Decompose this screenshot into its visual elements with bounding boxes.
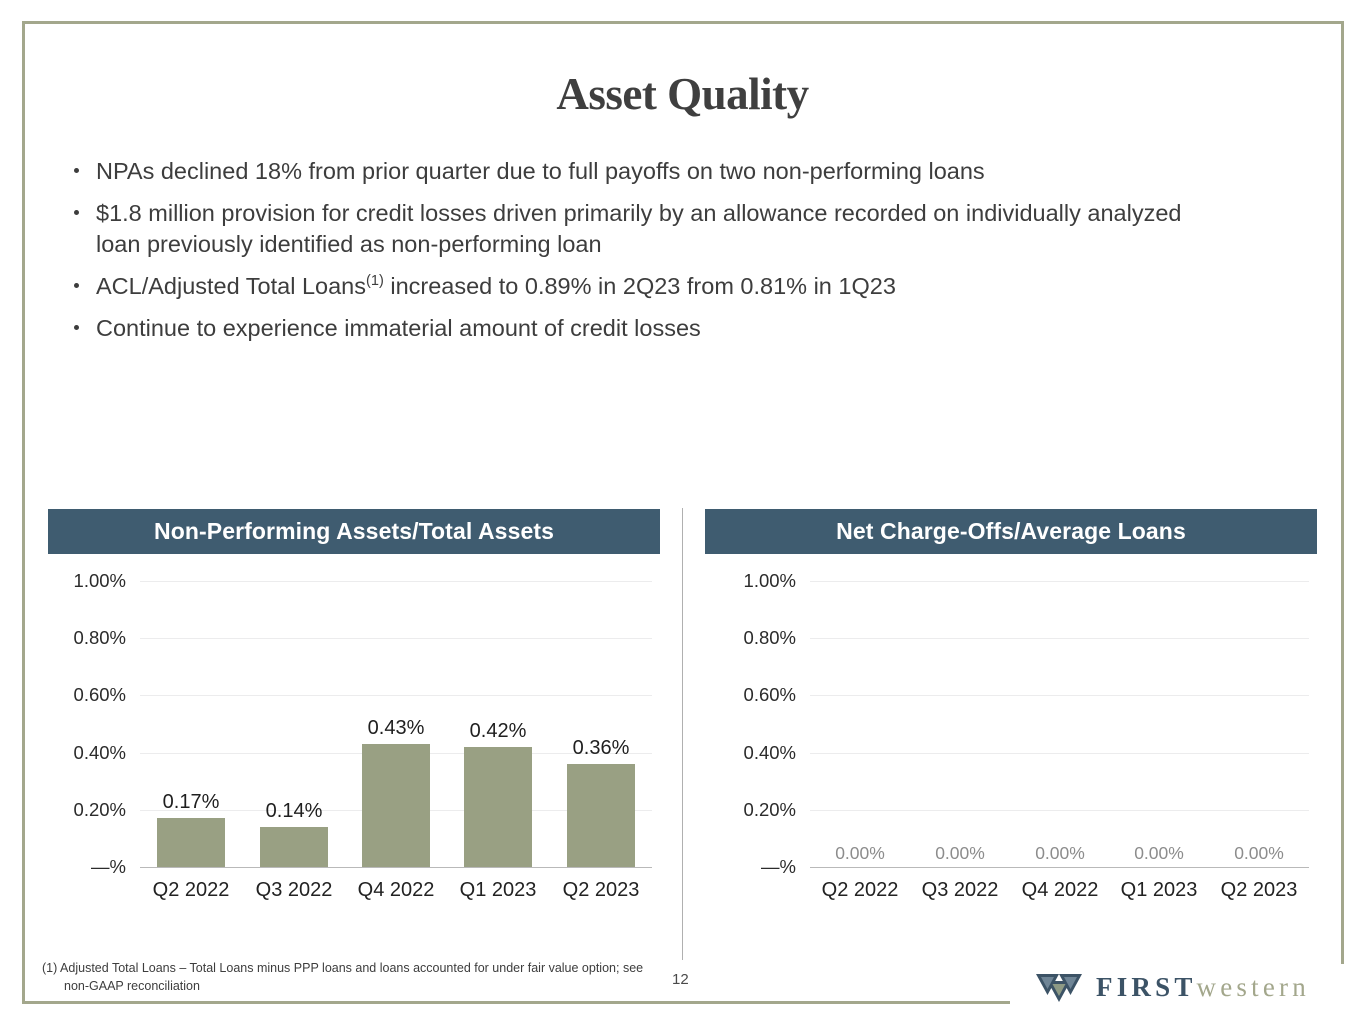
bar-value-label: 0.00% [1035, 843, 1085, 864]
gridline [140, 695, 652, 696]
y-axis-tick-label: —% [48, 856, 126, 878]
footnote: (1) Adjusted Total Loans – Total Loans m… [42, 959, 682, 995]
first-western-w-icon [1036, 973, 1082, 1003]
gridline [810, 638, 1309, 639]
slide-canvas: Asset Quality NPAs declined 18% from pri… [0, 0, 1365, 1024]
chart-plot-nco: 1.00%0.80%0.60%0.40%0.20%—%0.00%Q2 20220… [705, 559, 1317, 929]
charts-region: Non-Performing Assets/Total Assets 1.00%… [0, 0, 1365, 1024]
bar-value-label: 0.00% [1134, 843, 1184, 864]
footnote-line-1: (1) Adjusted Total Loans – Total Loans m… [42, 961, 643, 975]
x-axis-tick-label: Q4 2022 [358, 879, 435, 902]
bar-q2-2022 [157, 818, 225, 867]
gridline [810, 695, 1309, 696]
x-axis-tick-label: Q2 2023 [563, 879, 640, 902]
bar-value-label: 0.00% [935, 843, 985, 864]
chart-nco-average-loans: Net Charge-Offs/Average Loans 1.00%0.80%… [705, 509, 1317, 929]
y-axis-tick-label: 0.80% [48, 627, 126, 649]
y-axis-tick-label: 0.60% [705, 684, 796, 706]
chart-title-npa: Non-Performing Assets/Total Assets [48, 509, 660, 554]
footnote-line-2: non-GAAP reconciliation [42, 977, 682, 995]
bar-value-label: 0.42% [470, 720, 527, 743]
x-axis-tick-label: Q3 2022 [922, 879, 999, 902]
first-western-logo: FIRSTwestern [1036, 972, 1310, 1003]
x-axis-tick-label: Q1 2023 [460, 879, 537, 902]
x-axis-line [140, 867, 652, 868]
bar-q4-2022 [362, 744, 430, 867]
x-axis-tick-label: Q2 2022 [822, 879, 899, 902]
x-axis-tick-label: Q3 2022 [256, 879, 333, 902]
gridline [810, 581, 1309, 582]
x-axis-tick-label: Q2 2022 [153, 879, 230, 902]
x-axis-tick-label: Q1 2023 [1121, 879, 1198, 902]
y-axis-tick-label: 1.00% [705, 570, 796, 592]
y-axis-tick-label: 0.20% [705, 799, 796, 821]
bar-value-label: 0.00% [835, 843, 885, 864]
logo-word-second: western [1197, 972, 1310, 1002]
gridline [810, 810, 1309, 811]
x-axis-tick-label: Q2 2023 [1221, 879, 1298, 902]
chart-npa-total-assets: Non-Performing Assets/Total Assets 1.00%… [48, 509, 660, 929]
x-axis-tick-label: Q4 2022 [1022, 879, 1099, 902]
gridline [140, 581, 652, 582]
bar-value-label: 0.36% [573, 737, 630, 760]
y-axis-tick-label: 0.80% [705, 627, 796, 649]
page-number: 12 [672, 971, 689, 988]
chart-divider [682, 508, 683, 960]
gridline [140, 638, 652, 639]
y-axis-tick-label: 0.20% [48, 799, 126, 821]
bar-value-label: 0.43% [368, 717, 425, 740]
x-axis-line [810, 867, 1309, 868]
chart-title-nco: Net Charge-Offs/Average Loans [705, 509, 1317, 554]
logo-wordmark: FIRSTwestern [1096, 972, 1310, 1003]
bar-q1-2023 [464, 747, 532, 867]
bar-q2-2023 [567, 764, 635, 867]
y-axis-tick-label: 0.40% [705, 742, 796, 764]
chart-plot-npa: 1.00%0.80%0.60%0.40%0.20%—%0.17%Q2 20220… [48, 559, 660, 929]
gridline [810, 753, 1309, 754]
y-axis-tick-label: 1.00% [48, 570, 126, 592]
bar-q3-2022 [260, 827, 328, 867]
bar-value-label: 0.17% [163, 791, 220, 814]
y-axis-tick-label: 0.60% [48, 684, 126, 706]
bar-value-label: 0.14% [266, 800, 323, 823]
bar-value-label: 0.00% [1234, 843, 1284, 864]
logo-word-first: FIRST [1096, 972, 1197, 1002]
y-axis-tick-label: —% [705, 856, 796, 878]
y-axis-tick-label: 0.40% [48, 742, 126, 764]
